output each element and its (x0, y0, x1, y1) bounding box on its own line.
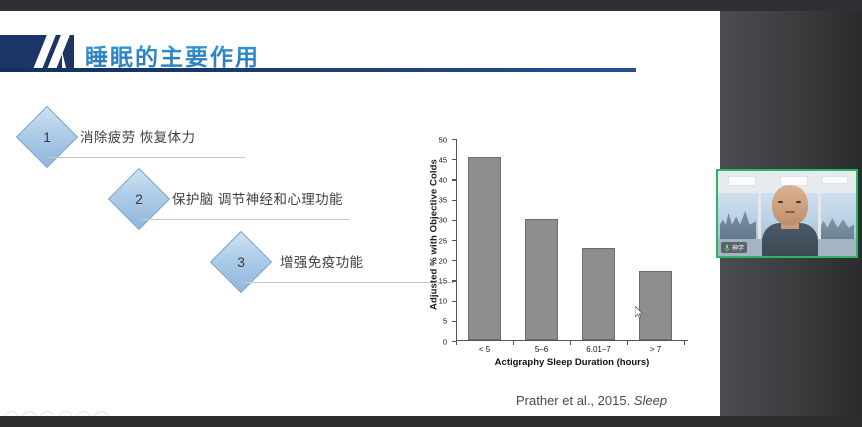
microphone-icon (724, 244, 730, 252)
participant-eye (778, 201, 783, 203)
list-item-number: 2 (117, 177, 161, 221)
chart-plot-area: 05101520253035404550< 55–66.01–7> 7 (456, 139, 684, 341)
zoom-icon[interactable] (76, 411, 91, 416)
chart-x-tick (456, 341, 457, 345)
presentation-slide: 睡眠的主要作用 1 消除疲劳 恢复体力 2 保护脑 调节神经和心理功能 3 增强… (0, 11, 720, 416)
list-item-number: 1 (25, 115, 69, 159)
window-mullion (758, 193, 761, 239)
chart-x-tick (570, 341, 571, 345)
chart-bar (639, 271, 672, 340)
chart-x-tick (684, 341, 685, 345)
chart-y-axis (456, 139, 457, 341)
chart-y-tick: 45 (452, 159, 456, 160)
chart-y-tick-label: 0 (443, 337, 447, 346)
participant-name: 神学 (732, 243, 744, 252)
chart-y-tick-label: 45 (439, 155, 447, 164)
chart-y-tick-label: 15 (439, 276, 447, 285)
chart-y-tick: 15 (452, 280, 456, 281)
list-item-divider (242, 282, 454, 283)
source-citation: Prather et al., 2015. Sleep (516, 393, 667, 408)
chart-y-tick: 10 (452, 301, 456, 302)
chart-bar (582, 248, 615, 340)
citation-journal: Sleep (634, 393, 667, 408)
pointer-icon[interactable] (4, 411, 19, 416)
participant-head (772, 185, 808, 225)
top-dark-strip (0, 0, 862, 11)
play-icon[interactable] (22, 411, 37, 416)
mouse-cursor-icon (635, 306, 643, 318)
list-item-number: 3 (219, 240, 263, 284)
video-tile[interactable]: 神学 (716, 169, 858, 258)
chart-y-tick-label: 5 (443, 317, 447, 326)
chart-y-tick: 50 (452, 139, 456, 140)
chart-y-tick-label: 20 (439, 256, 447, 265)
chart-x-tick (513, 341, 514, 345)
pen-icon[interactable] (40, 411, 55, 416)
chart-x-axis-label: Actigraphy Sleep Duration (hours) (456, 357, 688, 368)
participant-eye (796, 201, 801, 203)
participant-mouth (785, 211, 795, 213)
more-icon[interactable] (94, 411, 109, 416)
list-item-label: 保护脑 调节神经和心理功能 (172, 188, 343, 208)
chart-bar (525, 219, 558, 340)
chart-y-tick: 25 (452, 240, 456, 241)
chart-y-tick: 5 (452, 321, 456, 322)
chart-y-tick-label: 10 (439, 297, 447, 306)
chart-x-tick-label: 5–6 (535, 345, 548, 354)
chart-y-tick-label: 40 (439, 175, 447, 184)
chart-y-tick: 30 (452, 220, 456, 221)
chart-bar (468, 157, 501, 340)
list-item-divider (140, 219, 350, 220)
ceiling-light (822, 176, 848, 184)
chart-x-tick-label: 6.01–7 (586, 345, 610, 354)
list-item-label: 增强免疫功能 (280, 251, 363, 271)
page-title: 睡眠的主要作用 (85, 38, 260, 72)
window-mullion (818, 193, 821, 239)
chart-y-tick-label: 30 (439, 216, 447, 225)
chart-x-tick-label: < 5 (479, 345, 490, 354)
chart-y-tick: 35 (452, 200, 456, 201)
chart-y-tick: 40 (452, 179, 456, 180)
chart-x-tick (627, 341, 628, 345)
chart-y-tick: 20 (452, 260, 456, 261)
list-item-divider (48, 157, 245, 158)
citation-authors: Prather et al., 2015. (516, 393, 634, 408)
chart-y-tick-label: 50 (439, 135, 447, 144)
slide-toolbar[interactable] (4, 411, 109, 416)
list-item-label: 消除疲劳 恢复体力 (80, 126, 195, 146)
chart-y-tick-label: 35 (439, 196, 447, 205)
bar-chart: Adjusted % with Objective Colds 05101520… (428, 135, 690, 380)
slides-icon[interactable] (58, 411, 73, 416)
chart-x-tick-label: > 7 (650, 345, 661, 354)
participant-name-badge: 神学 (721, 242, 747, 253)
screen-root: 睡眠的主要作用 1 消除疲劳 恢复体力 2 保护脑 调节神经和心理功能 3 增强… (0, 0, 862, 427)
chart-y-tick-label: 25 (439, 236, 447, 245)
